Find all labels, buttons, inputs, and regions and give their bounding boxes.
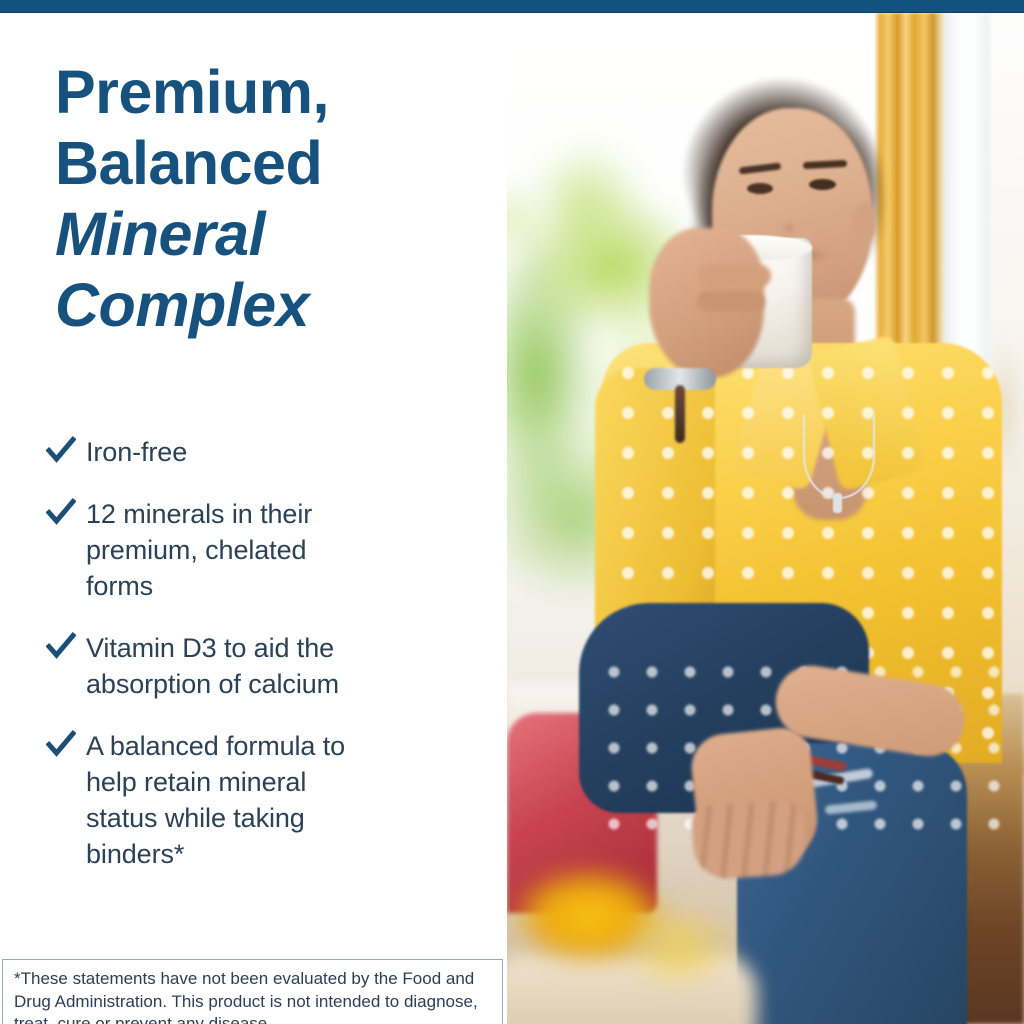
headline-line-1: Premium, — [55, 57, 485, 128]
page-title: Premium, Balanced Mineral Complex — [55, 57, 485, 341]
left-content-panel: Premium, Balanced Mineral Complex Iron-f… — [0, 13, 507, 1024]
photo-finger-2 — [697, 291, 765, 312]
photo-foliage-upper — [507, 73, 667, 293]
photo-fingers-lower — [691, 799, 808, 881]
photo-eye-right — [809, 179, 836, 190]
photo-nose — [779, 205, 799, 235]
checkmark-icon — [46, 630, 86, 661]
benefits-list: Iron-free 12 minerals in their premium, … — [46, 434, 496, 872]
list-item: 12 minerals in their premium, chelated f… — [46, 496, 496, 604]
photo-bracelet-charm — [675, 385, 685, 443]
fda-disclaimer-box: *These statements have not been evaluate… — [2, 959, 503, 1024]
list-item: Iron-free — [46, 434, 496, 470]
photo-pendant — [833, 493, 842, 513]
photo-necklace — [803, 413, 875, 499]
checkmark-icon — [46, 728, 86, 759]
photo-finger-1 — [699, 265, 771, 287]
checkmark-icon — [46, 434, 86, 465]
benefit-text: 12 minerals in their premium, chelated f… — [86, 496, 496, 604]
benefit-text: A balanced formula to help retain minera… — [86, 728, 496, 872]
lifestyle-photo — [507, 13, 1024, 1024]
fda-disclaimer-text: *These statements have not been evaluate… — [14, 968, 490, 1024]
photo-ear — [852, 203, 876, 243]
benefit-text: Vitamin D3 to aid the absorption of calc… — [86, 630, 496, 702]
list-item: Vitamin D3 to aid the absorption of calc… — [46, 630, 496, 702]
headline-line-2: Balanced — [55, 128, 485, 199]
headline-line-3: Mineral — [55, 199, 485, 270]
top-accent-bar — [0, 0, 1024, 13]
photo-eye-left — [747, 183, 773, 194]
benefit-text: Iron-free — [86, 434, 496, 470]
headline-line-4: Complex — [55, 270, 485, 341]
photo-foreground-fruit-2 — [602, 893, 752, 1013]
list-item: A balanced formula to help retain minera… — [46, 728, 496, 872]
checkmark-icon — [46, 496, 86, 527]
